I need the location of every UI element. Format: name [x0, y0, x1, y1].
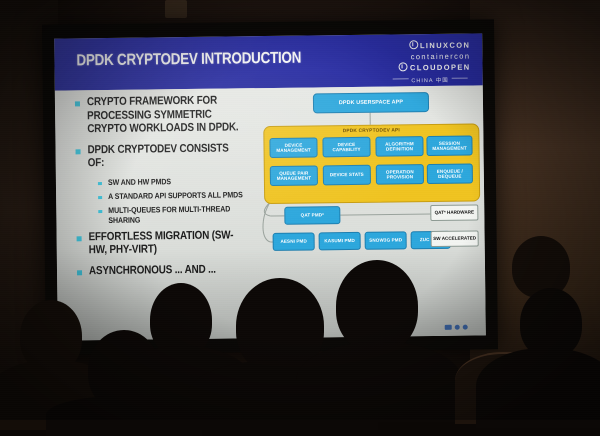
pmd-box-qat: QAT PMD* [284, 206, 340, 225]
sub-bullet-item: A STANDARD API SUPPORTS ALL PMDS [98, 190, 266, 202]
bullet-square-icon [98, 182, 102, 186]
backend-box-sw-accelerated: SW ACCELERATED [431, 230, 479, 247]
bullet-item: DPDK CRYPTODEV CONSISTS OF: [75, 142, 265, 171]
conference-logos: LINUXCON containercon CLOUDOPEN CHINA 中国 [389, 40, 471, 84]
api-item-device-management: DEVICE MANAGEMENT [269, 137, 317, 158]
sub-bullet-text: SW AND HW PMDS [107, 177, 170, 188]
linuxcon-logo: LINUXCON [389, 40, 470, 52]
pmd-box-snow3g: SNOW3G PMD [365, 231, 407, 250]
cloudopen-mark-icon [399, 62, 408, 71]
bullet-text: ASYNCHRONOUS ... AND ... [89, 263, 216, 278]
audience-head [336, 260, 418, 352]
bullet-text: EFFORTLESS MIGRATION (SW-HW, PHY-VIRT) [89, 229, 242, 258]
bullet-square-icon [77, 270, 82, 275]
slide-title-bar: DPDK CRYPTODEV INTRODUCTION LINUXCON con… [54, 33, 483, 90]
pmd-box-aesni: AESNI PMD [273, 232, 315, 251]
api-item-algorithm-definition: ALGORITHM DEFINITION [375, 136, 423, 157]
sub-bullet-item: MULTI-QUEUES FOR MULTI-THREAD SHARING [98, 204, 266, 226]
bullet-square-icon [98, 196, 102, 200]
cryptodev-api-title: DPDK CRYPTODEV API [264, 127, 478, 135]
api-item-queue-pair-management: QUEUE PAIR MANAGEMENT [270, 165, 318, 186]
cloudopen-logo: CLOUDOPEN [389, 62, 470, 74]
slide-footer-icons [445, 325, 468, 330]
api-item-device-capability: DEVICE CAPABILITY [322, 137, 370, 158]
bullet-item: ASYNCHRONOUS ... AND ... [77, 263, 267, 279]
audience-shoulders [476, 348, 600, 428]
linuxcon-mark-icon [409, 40, 418, 49]
page-title: DPDK CRYPTODEV INTRODUCTION [76, 50, 301, 71]
api-item-operation-provision: OPERATION PROVISION [376, 164, 424, 185]
audience-shoulders [296, 342, 462, 422]
pmd-box-kasumi: KASUMI PMD [319, 232, 361, 251]
china-logo: CHINA 中国 [389, 75, 470, 84]
bullet-text: DPDK CRYPTODEV CONSISTS OF: [87, 142, 240, 171]
api-item-session-management: SESSION MANAGEMENT [426, 136, 472, 157]
screen-icon [445, 325, 452, 330]
api-item-device-stats: DEVICE STATS [323, 165, 371, 186]
sub-bullet-text: MULTI-QUEUES FOR MULTI-THREAD SHARING [108, 204, 248, 226]
bullet-text: CRYPTO FRAMEWORK FOR PROCESSING SYMMETRI… [87, 94, 241, 136]
ceiling-fixture [165, 0, 187, 18]
sub-bullet-text: A STANDARD API SUPPORTS ALL PMDS [108, 190, 243, 202]
bullet-square-icon [76, 149, 81, 154]
bullet-list: CRYPTO FRAMEWORK FOR PROCESSING SYMMETRI… [75, 94, 267, 285]
gear-icon [455, 325, 460, 330]
backend-box-qat-hardware: QAT* HARDWARE [430, 204, 478, 221]
bullet-square-icon [75, 101, 80, 106]
sub-bullet-item: SW AND HW PMDS [98, 176, 266, 188]
bullet-square-icon [98, 210, 102, 214]
api-item-enqueue-dequeue: ENQUEUE / DEQUEUE [427, 164, 473, 185]
cloud-icon [463, 325, 468, 330]
diagram-box-userspace-app: DPDK USERSPACE APP [313, 92, 429, 113]
bullet-item: CRYPTO FRAMEWORK FOR PROCESSING SYMMETRI… [75, 94, 265, 137]
bullet-item: EFFORTLESS MIGRATION (SW-HW, PHY-VIRT) [77, 229, 267, 258]
sub-bullet-list: SW AND HW PMDS A STANDARD API SUPPORTS A… [98, 176, 267, 226]
bullet-square-icon [77, 236, 82, 241]
